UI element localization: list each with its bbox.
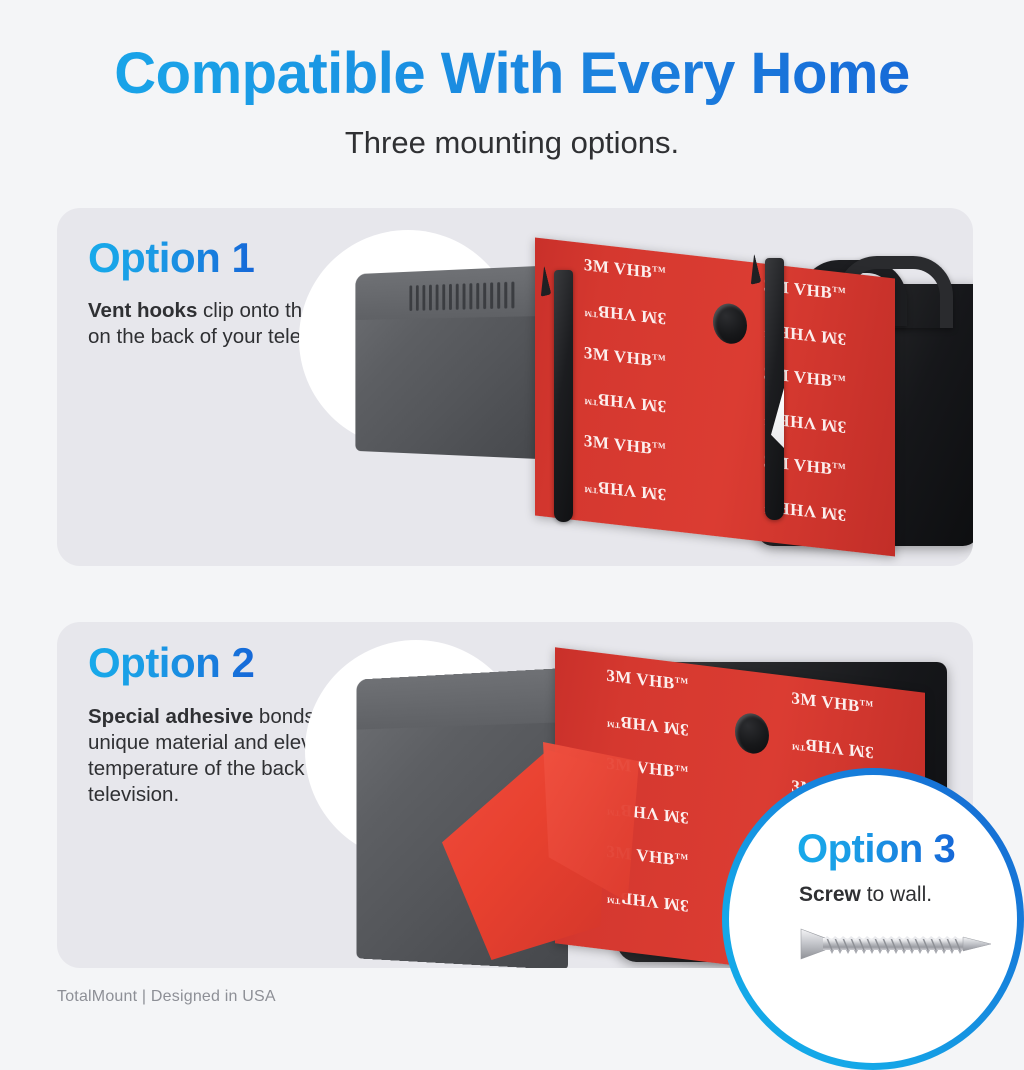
vent-hook-left — [554, 270, 573, 522]
page-title: Compatible With Every Home — [0, 40, 1024, 107]
option-3-description-rest: to wall. — [861, 883, 932, 906]
option-3-description: Screw to wall. — [799, 883, 932, 907]
option-1-card: Option 1 Vent hooks clip onto the vents … — [57, 208, 973, 566]
option-3-callout-inner: Option 3 Screw to wall. — [729, 775, 1017, 1063]
adhesive-tape-panel: 3M VHBTM 3M VHBTM 3M VHBTM 3M VHBTM 3M V… — [535, 237, 895, 556]
option-3-description-strong: Screw — [799, 883, 861, 906]
screw-icon — [799, 923, 995, 963]
option-3-label: Option 3 — [797, 827, 955, 872]
television-top-panel — [356, 668, 568, 730]
vent-hook-right — [765, 258, 784, 520]
header: Compatible With Every Home Three mountin… — [0, 0, 1024, 190]
tape-pattern: 3M VHBTM 3M VHBTM 3M VHBTM 3M VHBTM 3M V… — [535, 237, 895, 556]
option-1-illustration: 3M VHBTM 3M VHBTM 3M VHBTM 3M VHBTM 3M V… — [57, 208, 973, 566]
vent-slots — [409, 281, 524, 311]
option-3-callout: Option 3 Screw to wall. — [722, 768, 1024, 1070]
page-subtitle: Three mounting options. — [0, 125, 1024, 161]
footer-credit: TotalMount | Designed in USA — [57, 988, 276, 1006]
television-back — [355, 265, 552, 459]
